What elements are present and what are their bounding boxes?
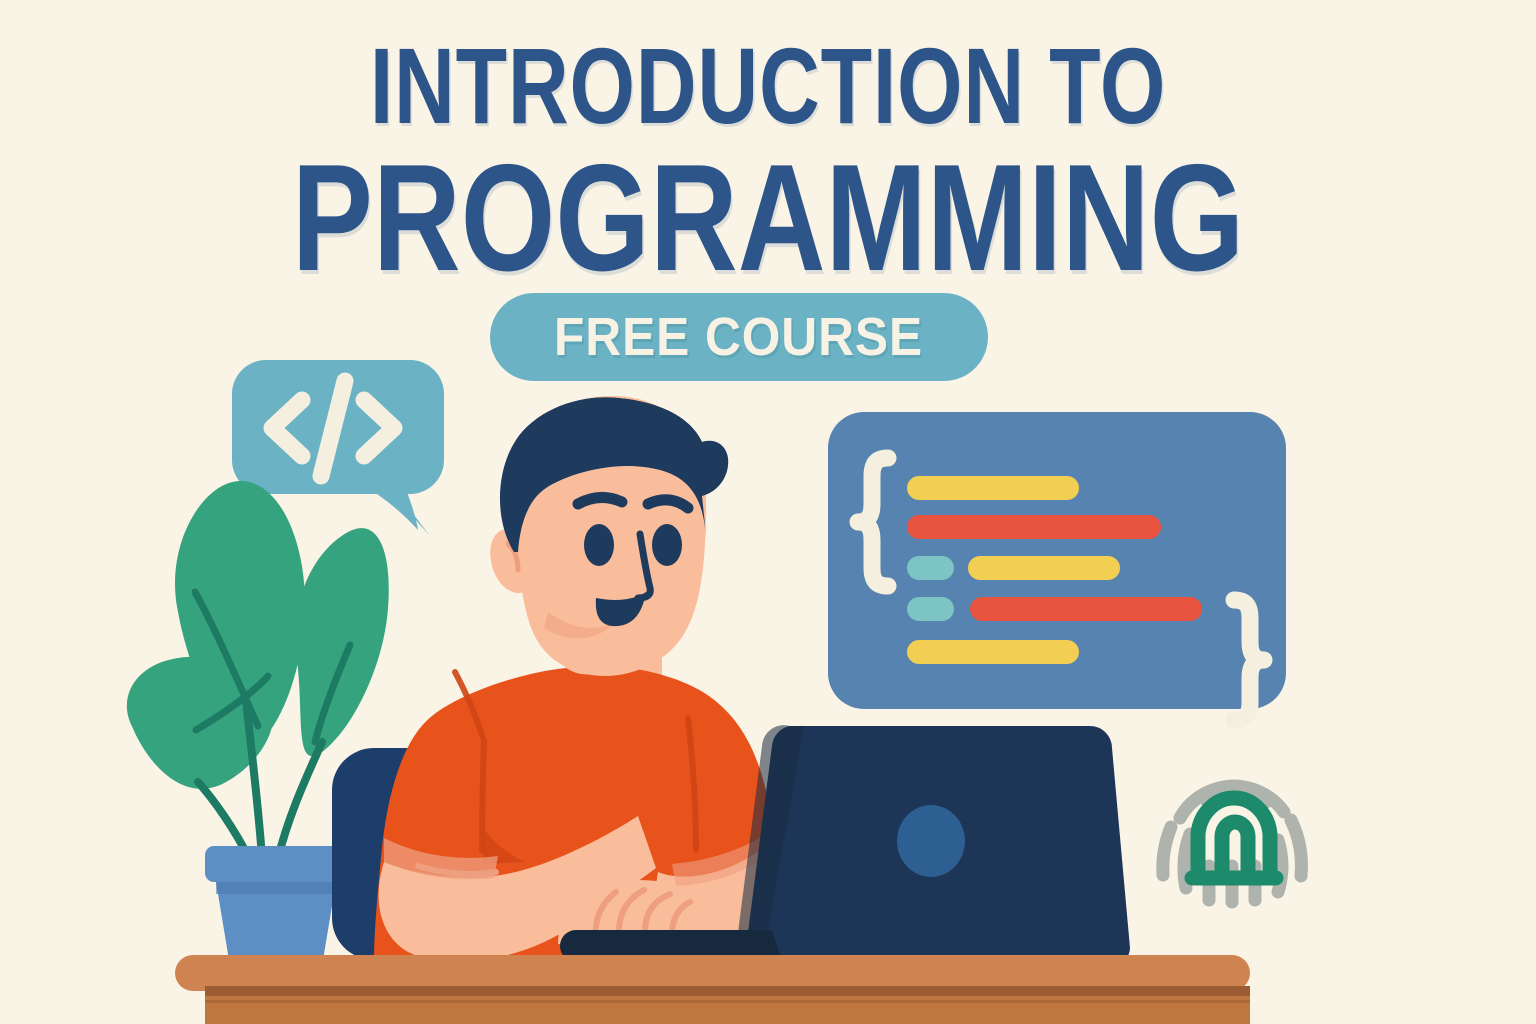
fingerprint-icon [1163, 786, 1302, 902]
free-course-badge[interactable]: FREE COURSE [490, 293, 988, 381]
person-figure [374, 396, 800, 962]
code-panel [828, 412, 1286, 720]
laptop-logo [897, 805, 965, 877]
title-line-1: INTRODUCTION TO [169, 34, 1367, 138]
eye-right [652, 524, 682, 566]
free-course-badge-label: FREE COURSE [555, 306, 924, 368]
desk [175, 955, 1250, 1024]
eye-left [584, 524, 614, 566]
poster-title: INTRODUCTION TO PROGRAMMING [0, 34, 1536, 292]
title-line-2: PROGRAMMING [154, 144, 1383, 292]
poster-canvas: INTRODUCTION TO PROGRAMMING FREE COURSE [0, 0, 1536, 1024]
